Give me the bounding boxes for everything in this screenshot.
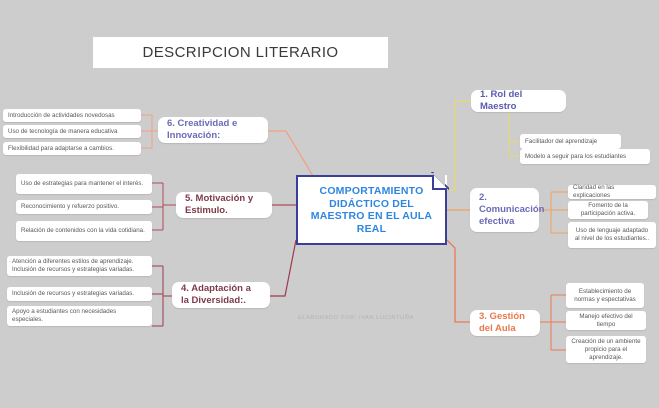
branch-creatividad-innovacion-label: 6. Creatividad e Innovación: (167, 118, 259, 142)
branch-motivacion-estimulo[interactable]: 5. Motivación y Estimulo. (176, 192, 272, 218)
branch-rol-del-maestro-label: 1. Rol del Maestro (480, 89, 557, 113)
leaf-motivacion-1-label: Uso de estrategias para mantener el inte… (21, 180, 147, 188)
leaf-adaptacion-1-label: Atención a diferentes estilos de aprendi… (12, 258, 147, 274)
leaf-motivacion-3[interactable]: Relación de contenidos con la vida cotid… (16, 221, 152, 241)
leaf-creatividad-2-label: Uso de tecnología de manera educativa (8, 128, 136, 136)
leaf-adaptacion-1[interactable]: Atención a diferentes estilos de aprendi… (7, 256, 152, 276)
central-topic-node[interactable]: COMPORTAMIENTO DIDÁCTICO DEL MAESTRO EN … (296, 175, 447, 245)
leaf-gestion-1-label: Establecimiento de normas y espectativas (571, 288, 639, 304)
branch-gestion-del-aula[interactable]: 3. Gestión del Aula (470, 310, 540, 336)
leaf-creatividad-2[interactable]: Uso de tecnología de manera educativa (3, 125, 141, 138)
branch-gestion-del-aula-label: 3. Gestión del Aula (479, 311, 531, 335)
branch-adaptacion-diversidad[interactable]: 4. Adaptación a la Diversidad:. (172, 282, 270, 308)
branch-comunicacion-efectiva[interactable]: 2. Comunicación efectiva (470, 188, 539, 232)
leaf-rol-1-label: Facilitador del aprendizaje (525, 138, 616, 146)
leaf-gestion-1[interactable]: Establecimiento de normas y espectativas (566, 283, 644, 308)
branch-comunicacion-efectiva-label: 2. Comunicación efectiva (479, 192, 530, 228)
leaf-adaptacion-2[interactable]: Inclusión de recursos y estrategias vari… (7, 287, 152, 301)
page-title: DESCRIPCION LITERARIO (93, 37, 388, 68)
branch-creatividad-innovacion[interactable]: 6. Creatividad e Innovación: (158, 117, 268, 143)
leaf-adaptacion-3-label: Apoyo a estudiantes con necesidades espe… (12, 308, 147, 324)
leaf-comunicacion-3[interactable]: Uso de lenguaje adaptado al nivel de los… (568, 222, 656, 248)
leaf-gestion-3-label: Creación de un ambiente propicio para el… (571, 338, 641, 362)
leaf-rol-2-label: Modelo a seguir para los estudiantes (525, 153, 645, 161)
leaf-motivacion-1[interactable]: Uso de estrategias para mantener el inte… (16, 174, 152, 194)
mindmap-canvas: DESCRIPCION LITERARIO COMPORTAMIENTO DID… (0, 0, 659, 408)
leaf-comunicacion-2[interactable]: Fomento de la participación activa. (568, 201, 648, 219)
leaf-motivacion-3-label: Relación de contenidos con la vida cotid… (21, 227, 147, 235)
leaf-adaptacion-2-label: Inclusión de recursos y estrategias vari… (12, 290, 147, 298)
leaf-motivacion-2-label: Reconocimiento y refuerzo positivo. (21, 203, 147, 211)
leaf-comunicacion-3-label: Uso de lenguaje adaptado al nivel de los… (573, 227, 651, 243)
leaf-creatividad-3[interactable]: Flexibilidad para adaptarse a cambios. (3, 142, 141, 155)
author-credit: ELABORADO POR: IVAN LUCINTUÑA (298, 315, 414, 321)
leaf-creatividad-1-label: Introducción de actividades novedosas (8, 112, 136, 120)
leaf-creatividad-3-label: Flexibilidad para adaptarse a cambios. (8, 145, 136, 153)
leaf-adaptacion-3[interactable]: Apoyo a estudiantes con necesidades espe… (7, 306, 152, 326)
branch-adaptacion-diversidad-label: 4. Adaptación a la Diversidad:. (181, 283, 261, 307)
leaf-creatividad-1[interactable]: Introducción de actividades novedosas (3, 109, 141, 122)
leaf-gestion-2[interactable]: Manejo efectivo del tiempo (566, 311, 646, 330)
leaf-rol-2[interactable]: Modelo a seguir para los estudiantes (520, 149, 650, 164)
leaf-comunicacion-1[interactable]: Claridad en las explicaciones (568, 185, 656, 199)
leaf-comunicacion-2-label: Fomento de la participación activa. (573, 202, 643, 218)
leaf-gestion-2-label: Manejo efectivo del tiempo (571, 313, 641, 329)
page-title-text: DESCRIPCION LITERARIO (143, 44, 339, 61)
branch-motivacion-estimulo-label: 5. Motivación y Estimulo. (185, 193, 263, 217)
leaf-rol-1[interactable]: Facilitador del aprendizaje (520, 134, 621, 149)
central-topic-label: COMPORTAMIENTO DIDÁCTICO DEL MAESTRO EN … (298, 185, 445, 235)
leaf-gestion-3[interactable]: Creación de un ambiente propicio para el… (566, 336, 646, 363)
branch-rol-del-maestro[interactable]: 1. Rol del Maestro (471, 90, 566, 112)
leaf-motivacion-2[interactable]: Reconocimiento y refuerzo positivo. (16, 200, 152, 214)
page-fold-icon (432, 175, 447, 190)
leaf-comunicacion-1-label: Claridad en las explicaciones (573, 184, 651, 200)
